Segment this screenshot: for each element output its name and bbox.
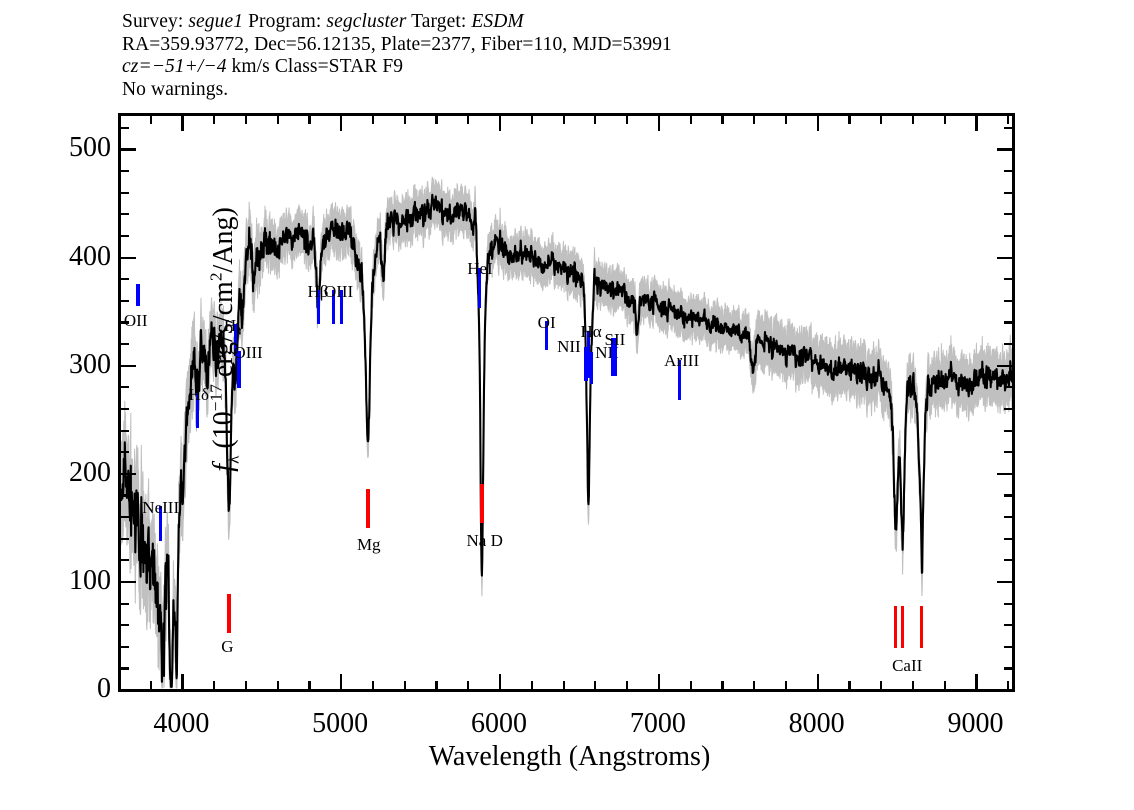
axis-tick [563,681,565,689]
flux-curve [121,195,1012,687]
axis-tick [944,681,946,689]
axis-tick [499,674,501,689]
line-label: OII [124,312,148,329]
spectrum-svg [121,116,1012,689]
axis-tick [975,674,977,689]
axis-tick [1007,116,1009,124]
line-label: OIII [324,283,353,300]
axis-tick [563,116,565,124]
axis-tick [1004,538,1012,540]
axis-tick [997,689,1012,691]
line-label: ArIII [664,352,699,369]
axis-tick [848,681,850,689]
axis-tick [121,235,129,237]
axis-tick [594,116,596,124]
line-label: Na D [467,532,503,549]
cz-value: cz=−51+/−4 [122,56,227,77]
y-tick-label: 200 [69,457,111,489]
axis-tick [1004,386,1012,388]
line-label: CaII [892,657,922,674]
survey-name: segue1 [188,11,243,32]
axis-tick [121,689,136,691]
axis-tick [121,300,129,302]
axis-tick [531,681,533,689]
line-marker-caii [920,606,923,648]
axis-tick [1004,516,1012,518]
header-line-survey: Survey: segue1 Program: segcluster Targe… [122,11,1022,34]
target-name: ESDM [471,11,523,32]
axis-tick [245,116,247,124]
y-tick-label: 0 [97,673,111,705]
axis-tick [150,116,152,124]
program-name: segcluster [326,11,406,32]
axis-tick [1004,667,1012,669]
axis-tick [499,116,501,131]
axis-tick [121,365,136,367]
axis-tick [181,116,183,131]
axis-tick [121,148,136,150]
axis-tick [121,581,136,583]
axis-tick [121,127,129,129]
line-label: Hα [581,323,602,340]
line-marker-g [227,594,230,633]
axis-tick [121,451,129,453]
axis-tick [435,681,437,689]
axis-tick [121,213,129,215]
axis-tick [121,408,129,410]
line-marker-caii [894,606,897,648]
axis-tick [817,116,819,131]
axis-tick [997,257,1012,259]
axis-tick [753,116,755,124]
axis-tick [848,116,850,124]
axis-tick [1004,213,1012,215]
axis-tick [121,494,129,496]
axis-tick [340,674,342,689]
line-marker-oii [137,284,140,306]
axis-tick [1004,321,1012,323]
axis-tick [1004,343,1012,345]
line-marker-nad [480,484,483,523]
y-tick-label: 100 [69,565,111,597]
axis-tick [912,681,914,689]
x-tick-label: 9000 [947,708,1003,740]
axis-tick [121,430,129,432]
axis-tick [121,257,136,259]
line-marker-mg [366,489,369,528]
error-band [121,177,1012,688]
x-tick-label: 8000 [789,708,845,740]
axis-tick [690,116,692,124]
line-label: G [221,638,233,655]
axis-tick [467,116,469,124]
axis-tick [308,116,310,124]
plot-canvas [121,116,1012,689]
x-axis-label: Wavelength (Angstroms) [121,741,1018,773]
axis-tick [277,681,279,689]
axis-tick [435,116,437,124]
axis-tick [372,116,374,124]
spectrum-header: Survey: segue1 Program: segcluster Targe… [122,11,1022,101]
axis-tick [404,681,406,689]
axis-tick [213,681,215,689]
x-tick-label: 5000 [312,708,368,740]
axis-tick [340,116,342,131]
axis-tick [121,170,129,172]
axis-tick [1004,624,1012,626]
axis-tick [1004,494,1012,496]
axis-tick [121,646,129,648]
axis-tick [1007,681,1009,689]
axis-tick [721,681,723,689]
axis-tick [121,624,129,626]
axis-tick [880,116,882,124]
axis-tick [690,681,692,689]
axis-tick [277,116,279,124]
axis-tick [181,674,183,689]
axis-tick [1004,430,1012,432]
axis-tick [121,278,129,280]
axis-tick [721,116,723,124]
axis-tick [1004,127,1012,129]
axis-tick [1004,559,1012,561]
axis-tick [121,343,129,345]
axis-tick [658,674,660,689]
line-label: HeI [467,260,492,277]
y-axis-label: fλ (10−17 erg/s/cm2/Ang) [207,129,244,549]
x-tick-label: 6000 [471,708,527,740]
header-line-coords: RA=359.93772, Dec=56.12135, Plate=2377, … [122,34,1022,57]
axis-tick [1004,408,1012,410]
axis-tick [121,386,129,388]
line-marker-nii [590,352,593,384]
axis-tick [626,681,628,689]
axis-tick [944,116,946,124]
axis-tick [1004,451,1012,453]
y-tick-label: 400 [69,241,111,273]
axis-tick [467,681,469,689]
y-tick-label: 500 [69,132,111,164]
axis-tick [785,681,787,689]
axis-tick [1004,192,1012,194]
line-label: SII [605,331,626,348]
axis-tick [121,603,129,605]
axis-tick [121,538,129,540]
axis-tick [594,681,596,689]
axis-tick [1004,603,1012,605]
axis-tick [213,116,215,124]
axis-tick [150,681,152,689]
axis-tick [785,116,787,124]
axis-tick [997,581,1012,583]
spectrum-plot: OIINeIIIHδHγOIIIHβOIIIHeIOINIIHαNIISIIAr… [118,113,1015,692]
axis-tick [372,681,374,689]
x-tick-label: 4000 [153,708,209,740]
axis-tick [753,681,755,689]
line-label: OI [538,314,556,331]
axis-tick [658,116,660,131]
axis-tick [308,681,310,689]
header-line-redshift: cz=−51+/−4 km/s Class=STAR F9 [122,56,1022,79]
axis-tick [121,667,129,669]
axis-tick [1004,235,1012,237]
axis-tick [121,473,136,475]
axis-tick [245,681,247,689]
line-label: Mg [357,536,381,553]
line-label: NeIII [142,499,179,516]
axis-tick [997,365,1012,367]
axis-tick [997,473,1012,475]
axis-tick [912,116,914,124]
axis-tick [880,681,882,689]
axis-tick [1004,170,1012,172]
axis-tick [121,516,129,518]
line-label: NII [557,338,581,355]
axis-tick [404,116,406,124]
axis-tick [997,148,1012,150]
axis-tick [121,192,129,194]
axis-tick [1004,646,1012,648]
axis-tick [817,674,819,689]
header-line-warnings: No warnings. [122,79,1022,102]
axis-tick [975,116,977,131]
x-tick-label: 7000 [630,708,686,740]
axis-tick [1004,300,1012,302]
axis-tick [531,116,533,124]
axis-tick [121,559,129,561]
axis-tick [626,116,628,124]
line-marker-caii [901,606,904,648]
y-tick-label: 300 [69,349,111,381]
axis-tick [1004,278,1012,280]
